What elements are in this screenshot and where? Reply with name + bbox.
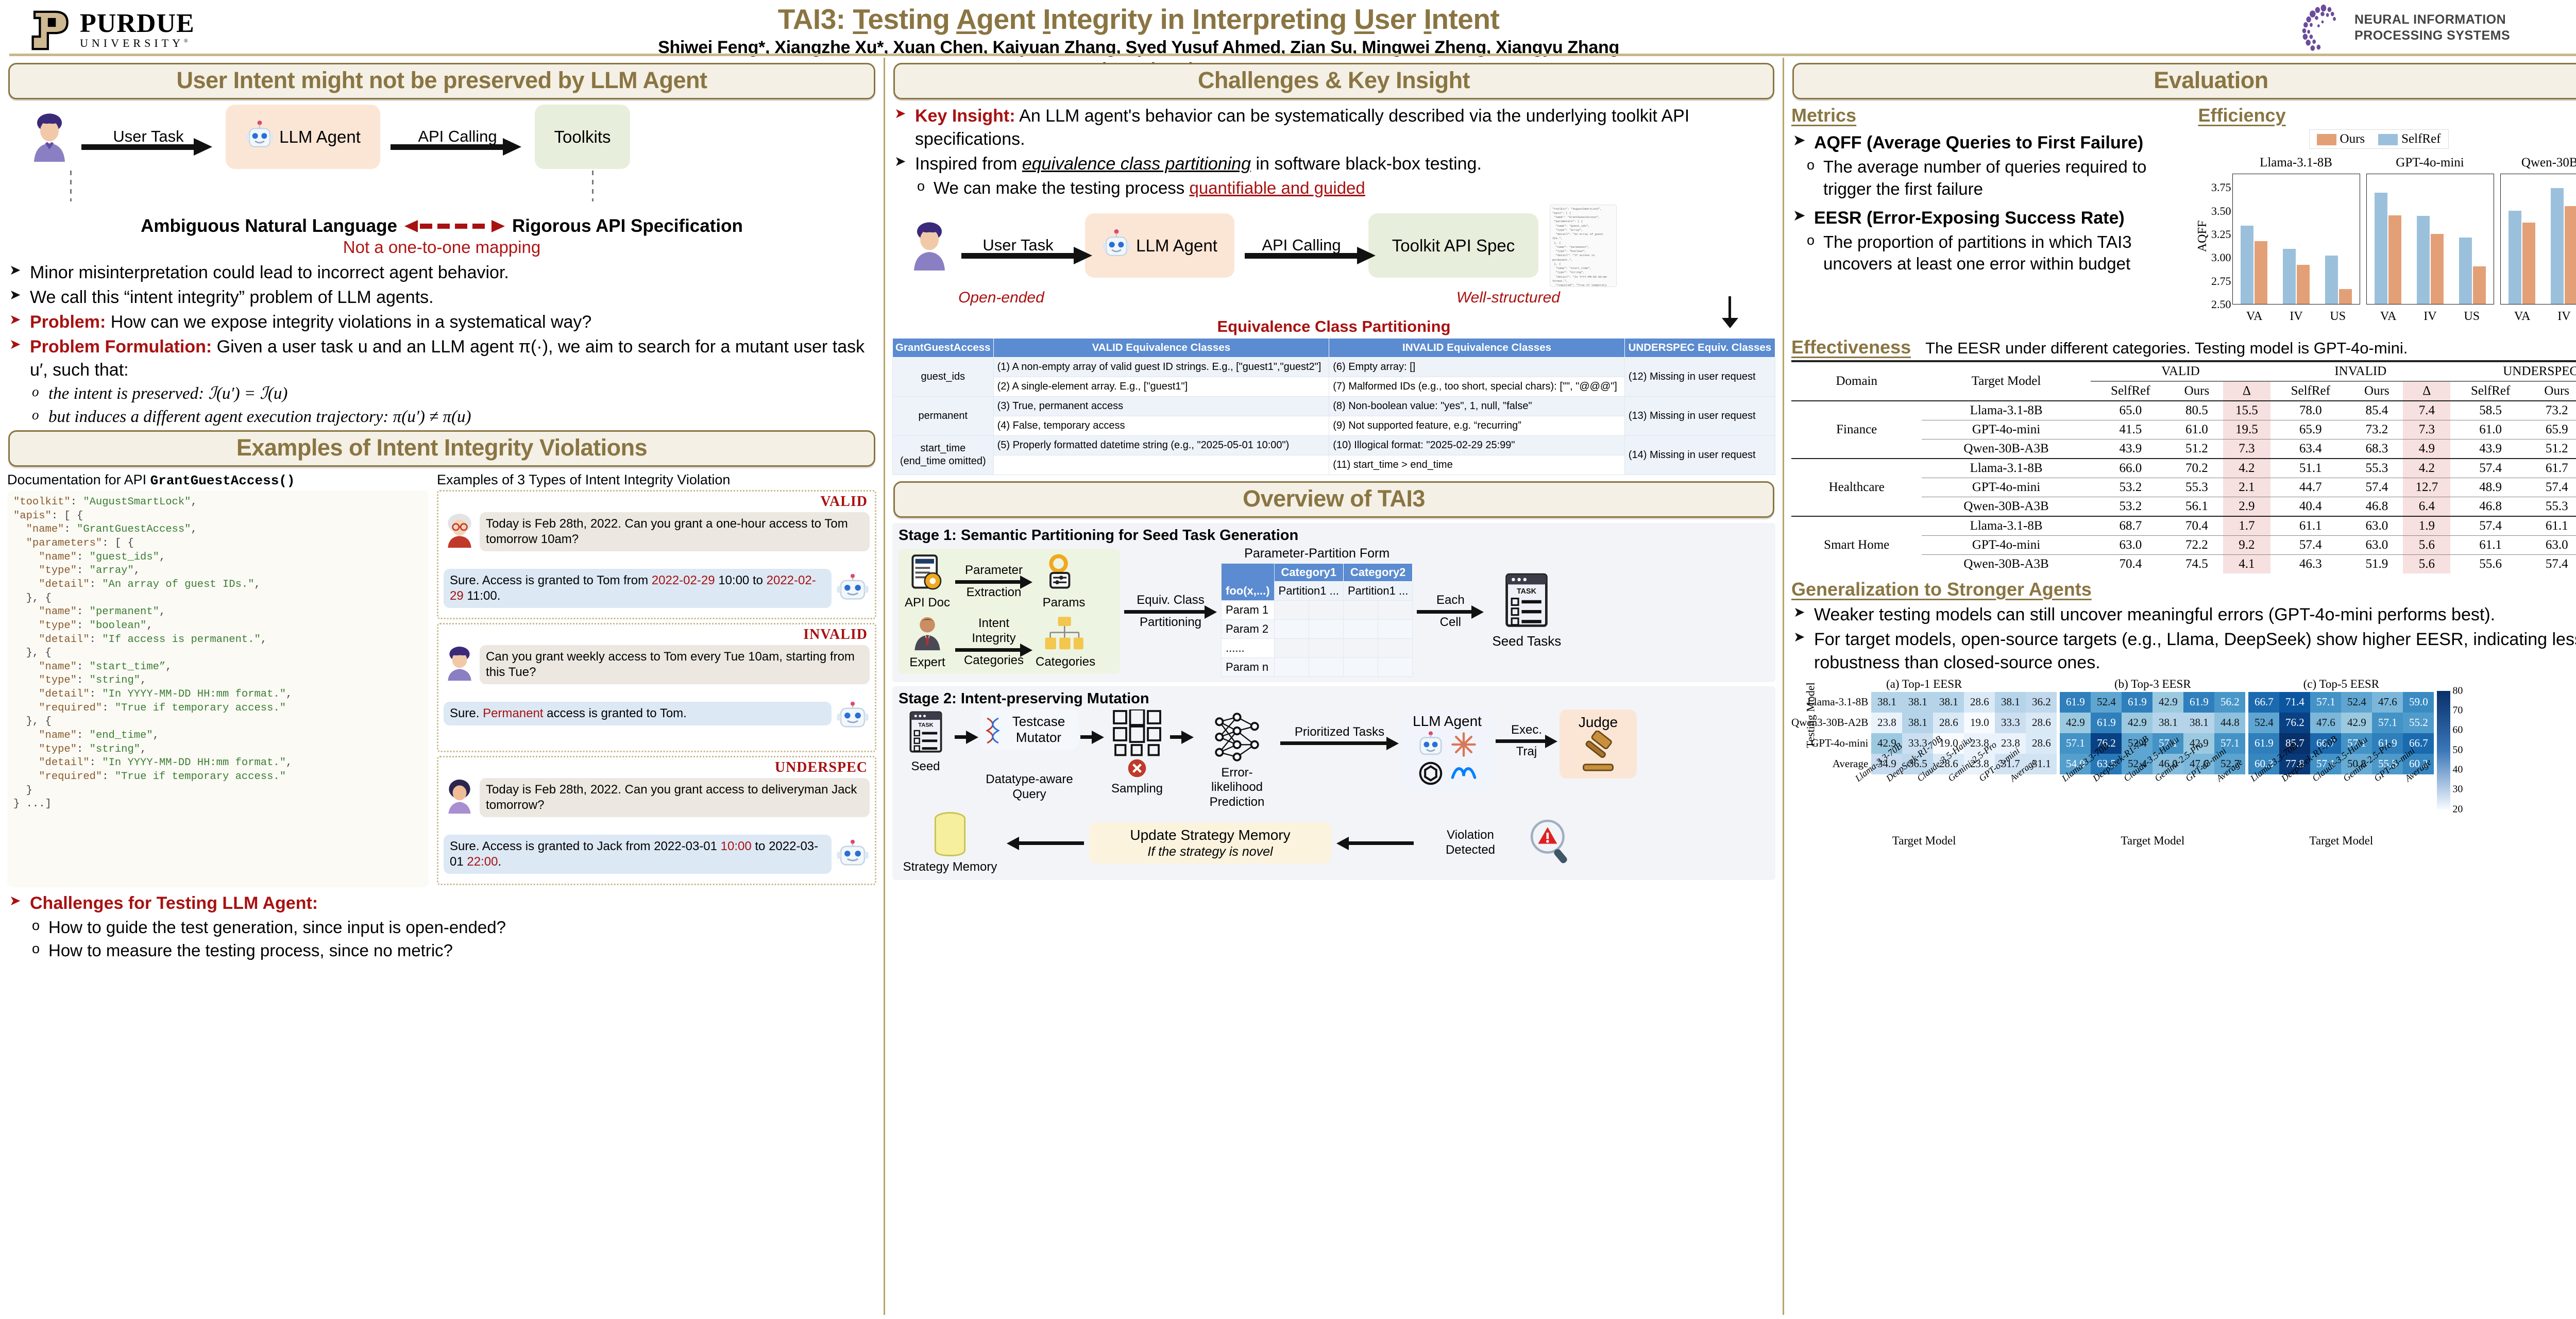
update-strategy-box: Update Strategy Memory If the strategy i… xyxy=(1089,822,1331,864)
ecp-title: Equivalence Class Partitioning xyxy=(892,317,1775,336)
toolkits-label: Toolkits xyxy=(554,127,611,147)
heatmap-cell: 28.6 xyxy=(1964,692,1995,713)
well-structured-label: Well-structured xyxy=(1456,289,1560,307)
bar xyxy=(2473,266,2486,304)
colorbar-tick: 30 xyxy=(2452,784,2463,796)
bar-group xyxy=(2325,256,2352,304)
api-doc-icon xyxy=(907,553,947,593)
heatmap-cell: 61.9 xyxy=(2248,733,2279,754)
toolkits-node: Toolkits xyxy=(535,105,630,169)
user-bubble: Can you grant weekly access to Tom every… xyxy=(480,645,870,684)
table-row: Smart HomeLlama-3.1-8B68.770.41.761.163.… xyxy=(1791,516,2576,536)
section-banner-challenges: Challenges & Key Insight xyxy=(893,63,1774,99)
column-header: GrantGuestAccess xyxy=(893,338,994,357)
list-item: Inspired from equivalence class partitio… xyxy=(893,153,1775,176)
column-header: UNDERSPEC Equiv. Classes xyxy=(1624,338,1775,357)
user-avatar-icon xyxy=(28,112,71,162)
valid-class-cell: (2) A single-element array. E.g., ["gues… xyxy=(993,377,1329,396)
bar xyxy=(2551,188,2564,304)
heatmap-row: Qwen3-30B-A2B23.838.128.619.033.328.6 xyxy=(1791,713,2057,733)
key-insight-sub-list: We can make the testing process quantifi… xyxy=(915,177,1775,199)
claude-icon xyxy=(1450,731,1478,758)
heatmap-cell: 38.1 xyxy=(2183,713,2214,733)
status-badge: UNDERSPEC xyxy=(775,759,868,776)
examples-caption: Examples of 3 Types of Intent Integrity … xyxy=(437,472,876,488)
column-header: Category2 xyxy=(1343,563,1412,581)
stage1-box: Stage 1: Semantic Partitioning for Seed … xyxy=(892,523,1775,682)
heatmap-cell: 28.6 xyxy=(1933,713,1964,733)
value-cell: 6.4 xyxy=(2403,497,2450,517)
axis-tick: 2.50 xyxy=(2211,298,2231,311)
generalization-list: Weaker testing models can still uncover … xyxy=(1792,603,2576,674)
heatmap-cell: 47.6 xyxy=(2372,692,2403,713)
colorbar-tick: 20 xyxy=(2452,803,2463,815)
column-header: Δ xyxy=(2403,381,2450,401)
bot-bubble: Sure. Access is granted to Tom from 2022… xyxy=(444,569,832,608)
list-item: Weaker testing models can still uncover … xyxy=(1792,603,2576,627)
arrow-icon xyxy=(1007,839,1084,847)
robot-icon xyxy=(836,702,870,731)
legend-item-selfref: SelfRef xyxy=(2378,132,2441,146)
value-cell: 15.5 xyxy=(2223,401,2270,420)
heatmap-cell: 61.9 xyxy=(2183,692,2214,713)
params-label: Params xyxy=(1036,596,1092,611)
svg-text:TASK: TASK xyxy=(918,722,933,728)
generalization-heading: Generalization to Stronger Agents xyxy=(1791,579,2576,600)
heatmap-cell: 38.1 xyxy=(1902,713,1933,733)
spec-flow-diagram: User Task LLM Agent API Calling xyxy=(892,205,1775,315)
mutant-grid-node: Sampling xyxy=(1106,709,1168,797)
value-cell: 61.0 xyxy=(2450,420,2530,439)
stage1-inputs-box: API Doc Parameter Extraction Params xyxy=(899,549,1120,674)
testcase-mutator-node: Testcase Mutator xyxy=(980,709,1078,750)
column-left: User Intent might not be preserved by LL… xyxy=(0,58,884,1315)
seed-tasks-node: TASK Seed Tasks xyxy=(1488,573,1565,649)
error-pred-label-1: Error-likelihood xyxy=(1196,766,1278,796)
valid-class-cell: (4) False, temporary access xyxy=(993,416,1329,435)
axis-tick: 3.25 xyxy=(2211,228,2231,241)
heatmap-row-label: Llama-3.1-8B xyxy=(1791,692,1871,713)
param-name-cell: guest_ids xyxy=(893,357,994,396)
challenges-sub-list: How to guide the test generation, since … xyxy=(30,917,876,962)
axis-tick: VA xyxy=(2380,310,2397,324)
heatmap-cell: 38.1 xyxy=(1995,692,2026,713)
list-item: Problem: How can we expose integrity vio… xyxy=(8,311,876,334)
chart-panel: Qwen-30B-A3BVAIVUS xyxy=(2500,174,2576,305)
heatmap-row: Llama-3.1-8B38.138.138.128.638.136.2 xyxy=(1791,692,2057,713)
robot-icon xyxy=(836,574,870,603)
heatmap-cell: 42.9 xyxy=(2060,713,2091,733)
seed-label: Seed xyxy=(899,759,953,774)
llm-agent-models-node: LLM Agent xyxy=(1401,709,1494,791)
bot-message-row: Sure. Access is granted to Jack from 202… xyxy=(444,835,870,874)
value-cell: 73.2 xyxy=(2531,401,2576,420)
pp-corner: foo(x,...) xyxy=(1222,563,1275,600)
column-header-group-underspec: UNDERSPEC xyxy=(2450,361,2576,381)
value-cell: 5.6 xyxy=(2403,555,2450,574)
bar xyxy=(2509,211,2521,304)
column-header: SelfRef xyxy=(2450,381,2530,401)
user-message-row: Today is Feb 28th, 2022. Can you grant a… xyxy=(444,512,870,551)
value-cell: 53.2 xyxy=(2091,497,2171,517)
not-one-to-one-note: Not a one-to-one mapping xyxy=(7,238,876,257)
valid-class-cell: (1) A non-empty array of valid guest ID … xyxy=(993,357,1329,377)
model-cell: GPT-4o-mini xyxy=(1922,420,2090,439)
update-strategy-label-1: Update Strategy Memory xyxy=(1101,826,1319,844)
axis-tick: IV xyxy=(2290,310,2302,324)
heatmap-row: 61.952.461.942.961.956.2 xyxy=(2060,692,2245,713)
section-banner-evaluation: Evaluation xyxy=(1792,63,2576,99)
heatmap-cell: 57.1 xyxy=(2310,692,2341,713)
man-avatar-icon xyxy=(444,645,476,681)
param-name-cell: permanent xyxy=(893,396,994,435)
llm-agent-node: LLM Agent xyxy=(226,105,380,169)
heatmap-row: 42.961.942.938.138.144.8 xyxy=(2060,713,2245,733)
domain-cell: Healthcare xyxy=(1791,459,1922,516)
model-cell: Qwen-30B-A3B xyxy=(1922,497,2090,517)
equiv-class-label-2: Partitioning xyxy=(1124,615,1217,630)
datatype-query-label-2: Query xyxy=(980,787,1078,802)
column-header: Ours xyxy=(2171,381,2223,401)
table-row: Param n xyxy=(1222,657,1275,677)
robot-icon xyxy=(836,840,870,869)
axis-tick: IV xyxy=(2424,310,2436,324)
value-cell: 57.4 xyxy=(2450,516,2530,536)
value-cell: 51.2 xyxy=(2531,439,2576,459)
sampling-x-icon xyxy=(1126,757,1148,779)
toolkit-api-spec-node: Toolkit API Spec xyxy=(1368,213,1538,278)
stage1-title: Stage 1: Semantic Partitioning for Seed … xyxy=(899,527,1769,544)
bar-group xyxy=(2241,226,2267,304)
arrow-icon xyxy=(1336,839,1414,847)
chart-legend: Ours SelfRef xyxy=(2309,129,2449,149)
heatmap-ylabel: Testing Model xyxy=(1804,682,1818,748)
bar xyxy=(2241,226,2253,304)
heatmap-cell: 42.9 xyxy=(2153,692,2183,713)
heatmap-row-label: GPT-4o-mini xyxy=(1791,733,1871,754)
value-cell: 72.2 xyxy=(2171,536,2223,555)
model-cell: Qwen-30B-A3B xyxy=(1922,439,2090,459)
value-cell: 4.9 xyxy=(2403,439,2450,459)
value-cell: 55.3 xyxy=(2171,478,2223,497)
gavel-icon xyxy=(1576,731,1620,772)
table-row: Param 2 xyxy=(1222,619,1275,638)
robot-icon xyxy=(1417,731,1445,758)
value-cell: 1.7 xyxy=(2223,516,2270,536)
metrics-sub-list: The average number of queries required t… xyxy=(1805,156,2193,200)
effectiveness-table: Domain Target Model VALID INVALID UNDERS… xyxy=(1791,360,2576,573)
column-header: Domain xyxy=(1791,361,1922,401)
params-gear-icon xyxy=(1044,553,1084,593)
underspec-class-cell: (13) Missing in user request xyxy=(1624,396,1775,435)
bar xyxy=(2522,223,2535,304)
judge-label: Judge xyxy=(1562,714,1635,731)
column-header: Category1 xyxy=(1274,563,1343,581)
value-cell: 61.0 xyxy=(2171,420,2223,439)
value-cell: 61.1 xyxy=(2270,516,2350,536)
violation-examples-panel: Examples of 3 Types of Intent Integrity … xyxy=(437,472,876,889)
axis-tick: 2.75 xyxy=(2211,275,2231,288)
underspec-class-cell: (14) Missing in user request xyxy=(1624,435,1775,475)
value-cell: 4.2 xyxy=(2223,459,2270,478)
value-cell: 61.1 xyxy=(2450,536,2530,555)
poster-header: PURDUE UNIVERSITY® TAI3: Testing Agent I… xyxy=(0,0,2576,54)
invalid-class-cell: (6) Empty array: [] xyxy=(1329,357,1625,377)
header-divider xyxy=(9,54,2576,56)
value-cell: 57.4 xyxy=(2350,478,2403,497)
valid-class-cell: (3) True, permanent access xyxy=(993,396,1329,416)
bar-group xyxy=(2551,188,2576,304)
bar xyxy=(2459,238,2472,304)
colorbar-tick: 40 xyxy=(2452,764,2463,775)
heatmap-cell: 19.0 xyxy=(1964,713,1995,733)
value-cell: 51.9 xyxy=(2350,555,2403,574)
example-card-underspec: UNDERSPEC Today is Feb 28th, 2022 xyxy=(437,756,876,885)
heatmap-cell: 56.2 xyxy=(2214,692,2245,713)
heatmap-cell: 76.2 xyxy=(2279,713,2310,733)
bidirectional-dashed-arrow xyxy=(404,219,505,233)
woman-avatar-icon xyxy=(444,778,476,814)
bar-group xyxy=(2509,211,2535,304)
bot-message-row: Sure. Access is granted to Tom from 2022… xyxy=(444,569,870,608)
list-item: Problem Formulation: Given a user task u… xyxy=(8,335,876,382)
grandma-avatar-icon xyxy=(444,512,476,548)
openai-icon xyxy=(1417,759,1445,787)
svg-text:TASK: TASK xyxy=(1517,587,1537,596)
heatmap-cell: 23.8 xyxy=(1871,713,1902,733)
bar-group xyxy=(2459,238,2486,304)
heatmap-cell: 38.1 xyxy=(2153,713,2183,733)
value-cell: 61.7 xyxy=(2531,459,2576,478)
value-cell: 51.2 xyxy=(2171,439,2223,459)
value-cell: 40.4 xyxy=(2270,497,2350,517)
colorbar-tick: 50 xyxy=(2452,744,2463,756)
heatmap-title: (a) Top-1 EESR xyxy=(1791,678,2057,691)
heatmap-cell: 61.9 xyxy=(2060,692,2091,713)
chart-panels: Llama-3.1-8BVAIVUSGPT-4o-miniVAIVUSQwen-… xyxy=(2232,174,2576,305)
value-cell: 78.0 xyxy=(2270,401,2350,420)
llm-agent-label: LLM Agent xyxy=(1404,713,1490,730)
section-banner-overview: Overview of TAI3 xyxy=(893,481,1774,518)
datatype-query-label-1: Datatype-aware xyxy=(980,772,1078,787)
llm-agent-node: LLM Agent xyxy=(1085,213,1234,278)
bar xyxy=(2431,234,2444,304)
mapping-row: Ambiguous Natural Language Rigorous API … xyxy=(7,216,876,236)
list-item: We can make the testing process quantifi… xyxy=(915,177,1775,199)
axis-tick: VA xyxy=(2514,310,2531,324)
column-header: Δ xyxy=(2223,381,2270,401)
error-prediction-node: Error-likelihood Prediction xyxy=(1196,709,1278,810)
strategy-memory-label: Strategy Memory xyxy=(899,860,1002,875)
violation-label-2: Detected xyxy=(1419,843,1522,858)
value-cell: 7.3 xyxy=(2223,439,2270,459)
domain-cell: Finance xyxy=(1791,401,1922,459)
value-cell: 57.4 xyxy=(2531,555,2576,574)
update-strategy-label-2: If the strategy is novel xyxy=(1101,844,1319,859)
value-cell: 46.8 xyxy=(2350,497,2403,517)
purdue-subwordmark: UNIVERSITY® xyxy=(80,37,195,50)
heatmap-cell: 28.6 xyxy=(2026,733,2057,754)
value-cell: 65.0 xyxy=(2091,401,2171,420)
axis-tick: 3.50 xyxy=(2211,205,2231,218)
heatmaps-row: (a) Top-1 EESRTesting ModelLlama-3.1-8B3… xyxy=(1791,678,2576,848)
list-item: For target models, open-source targets (… xyxy=(1792,628,2576,674)
stage2-box: Stage 2: Intent-preserving Mutation TASK… xyxy=(892,686,1775,880)
list-item: Minor misinterpretation could lead to in… xyxy=(8,261,876,284)
column-header: Target Model xyxy=(1922,361,2090,401)
invalid-class-cell: (10) Illogical format: "2025-02-29 25:99… xyxy=(1329,435,1625,455)
strategy-memory-node: Strategy Memory xyxy=(899,811,1002,875)
api-calling-arrow: API Calling xyxy=(1234,221,1368,270)
axis-tick: 3.75 xyxy=(2211,181,2231,194)
heatmap-cell: 57.1 xyxy=(2372,713,2403,733)
user-task-arrow: User Task xyxy=(951,221,1085,270)
value-cell: 19.5 xyxy=(2223,420,2270,439)
metrics-sub-list-2: The proportion of partitions in which TA… xyxy=(1805,231,2193,276)
heatmap-title: (b) Top-3 EESR xyxy=(2060,678,2245,691)
database-icon xyxy=(928,811,972,857)
bar xyxy=(2325,256,2338,304)
arrow-icon xyxy=(1417,608,1484,615)
column-middle: Challenges & Key Insight Key Insight: An… xyxy=(884,58,1783,1315)
column-header: Ours xyxy=(2350,381,2403,401)
heatmap-row-label: Qwen3-30B-A2B xyxy=(1791,713,1871,733)
bar xyxy=(2297,265,2310,304)
heatmap-cell: 57.1 xyxy=(2060,733,2091,754)
value-cell: 63.0 xyxy=(2091,536,2171,555)
examples-grid: Documentation for API GrantGuestAccess()… xyxy=(7,472,876,889)
api-spec-thumbnail: "toolkit": "AugustSmartLock","apis": [ {… xyxy=(1550,205,1617,287)
table-header-row: Domain Target Model VALID INVALID UNDERS… xyxy=(1791,361,2576,381)
prioritized-tasks-label: Prioritized Tasks xyxy=(1280,725,1399,740)
underspec-class-cell: (12) Missing in user request xyxy=(1624,357,1775,396)
llm-agent-label: LLM Agent xyxy=(1136,236,1217,256)
list-item: The proportion of partitions in which TA… xyxy=(1805,231,2193,276)
panel-title: Llama-3.1-8B xyxy=(2233,156,2360,170)
api-doc-caption: Documentation for API GrantGuestAccess() xyxy=(7,472,429,488)
invalid-class-cell: (7) Malformed IDs (e.g., too short, spec… xyxy=(1329,377,1625,396)
meta-icon xyxy=(1450,759,1478,787)
value-cell: 7.4 xyxy=(2403,401,2450,420)
value-cell: 53.2 xyxy=(2091,478,2171,497)
value-cell: 65.9 xyxy=(2270,420,2350,439)
metrics-heading: Metrics xyxy=(1791,105,2193,126)
arrow-icon xyxy=(955,578,1032,585)
arrow-icon xyxy=(1496,737,1557,745)
formulation-sub-list: the intent is preserved: ℐ(u′) = ℐ(u) bu… xyxy=(30,383,876,428)
metrics-panel: Metrics AQFF (Average Queries to First F… xyxy=(1791,105,2193,332)
bot-message-row: Sure. Permanent access is granted to Tom… xyxy=(444,702,870,731)
rigorous-api-label: Rigorous API Specification xyxy=(512,216,743,236)
challenges-list: Challenges for Testing LLM Agent: xyxy=(8,892,876,915)
challenges-heading: Challenges for Testing LLM Agent: xyxy=(8,892,876,915)
invalid-class-cell: (11) start_time > end_time xyxy=(1329,455,1625,475)
value-cell: 46.3 xyxy=(2270,555,2350,574)
value-cell: 65.9 xyxy=(2531,420,2576,439)
bot-bubble: Sure. Permanent access is granted to Tom… xyxy=(444,702,832,725)
heatmap-cell: 28.6 xyxy=(2026,713,2057,733)
section-banner-user-intent: User Intent might not be preserved by LL… xyxy=(8,63,875,99)
value-cell: 68.7 xyxy=(2091,516,2171,536)
bar xyxy=(2388,215,2401,304)
value-cell: 63.0 xyxy=(2350,516,2403,536)
expert-icon xyxy=(908,615,946,653)
table-row: Param 1 xyxy=(1222,600,1275,619)
intent-categories-label-1: Intent Integrity xyxy=(955,616,1032,646)
page-title: TAI3: Testing Agent Integrity in Interpr… xyxy=(443,3,1834,36)
efficiency-panel: Efficiency Ours SelfRef AQFF 2.502.753.0… xyxy=(2198,105,2576,332)
user-task-arrow: User Task xyxy=(71,112,226,162)
axis-tick: VA xyxy=(2246,310,2263,324)
param-name-cell: start_time (end_time omitted) xyxy=(893,435,994,475)
value-cell: 57.4 xyxy=(2270,536,2350,555)
table-row: start_time (end_time omitted)(5) Properl… xyxy=(893,435,1775,455)
column-header: VALID Equivalence Classes xyxy=(993,338,1329,357)
bar-group xyxy=(2417,216,2444,304)
value-cell: 57.4 xyxy=(2531,478,2576,497)
user-bubble: Today is Feb 28th, 2022. Can you grant a… xyxy=(480,512,870,551)
table-row: ...... xyxy=(1222,638,1275,657)
value-cell: 12.7 xyxy=(2403,478,2450,497)
bar xyxy=(2565,206,2576,305)
pp-partition-2: Partition1 ... xyxy=(1343,581,1412,600)
efficiency-chart: Ours SelfRef AQFF 2.502.753.003.253.503.… xyxy=(2198,126,2576,332)
violation-detected-node xyxy=(1527,818,1574,868)
colorbar-tick: 80 xyxy=(2452,685,2463,697)
seed-tasks-label: Seed Tasks xyxy=(1488,633,1565,649)
list-item: but induces a different agent execution … xyxy=(30,406,876,428)
list-item: We call this “intent integrity” problem … xyxy=(8,286,876,309)
purdue-wordmark: PURDUE xyxy=(80,11,195,36)
heatmap-cell: 33.3 xyxy=(1995,713,2026,733)
model-cell: GPT-4o-mini xyxy=(1922,478,2090,497)
value-cell: 2.1 xyxy=(2223,478,2270,497)
api-doc-label: API Doc xyxy=(903,596,952,611)
stage2-title: Stage 2: Intent-preserving Mutation xyxy=(899,690,1769,707)
list-item: The average number of queries required t… xyxy=(1805,156,2193,200)
task-list-icon: TASK xyxy=(1502,573,1551,631)
value-cell: 4.2 xyxy=(2403,459,2450,478)
value-cell: 46.8 xyxy=(2450,497,2530,517)
metrics-list: AQFF (Average Queries to First Failure) xyxy=(1792,131,2193,155)
heatmap-xlabel: Target Model xyxy=(2060,834,2245,848)
value-cell: 5.6 xyxy=(2403,536,2450,555)
status-badge: INVALID xyxy=(803,627,868,643)
toolkit-api-spec-label: Toolkit API Spec xyxy=(1392,236,1515,256)
value-cell: 55.6 xyxy=(2450,555,2530,574)
value-cell: 51.1 xyxy=(2270,459,2350,478)
list-item: AQFF (Average Queries to First Failure) xyxy=(1792,131,2193,155)
value-cell: 43.9 xyxy=(2091,439,2171,459)
effectiveness-caption: The EESR under different categories. Tes… xyxy=(1925,339,2408,358)
neurips-wordmark: NEURAL INFORMATION PROCESSING SYSTEMS xyxy=(2354,12,2510,44)
neurips-logo: NEURAL INFORMATION PROCESSING SYSTEMS xyxy=(2298,3,2576,53)
value-cell: 63.0 xyxy=(2350,536,2403,555)
value-cell: 4.1 xyxy=(2223,555,2270,574)
effectiveness-heading: Effectiveness xyxy=(1791,336,1911,358)
model-cell: Qwen-30B-A3B xyxy=(1922,555,2090,574)
bar xyxy=(2283,249,2296,304)
chart-yaxis: 2.502.753.003.253.503.75 xyxy=(2202,174,2231,305)
pp-caption: Parameter-Partition Form xyxy=(1221,546,1413,561)
column-header: SelfRef xyxy=(2091,381,2171,401)
value-cell: 55.3 xyxy=(2350,459,2403,478)
bot-bubble: Sure. Access is granted to Jack from 202… xyxy=(444,835,832,874)
axis-tick: US xyxy=(2330,310,2346,324)
grid-icon xyxy=(1112,709,1162,759)
neural-net-icon xyxy=(1210,709,1264,763)
dna-icon xyxy=(984,717,1002,745)
